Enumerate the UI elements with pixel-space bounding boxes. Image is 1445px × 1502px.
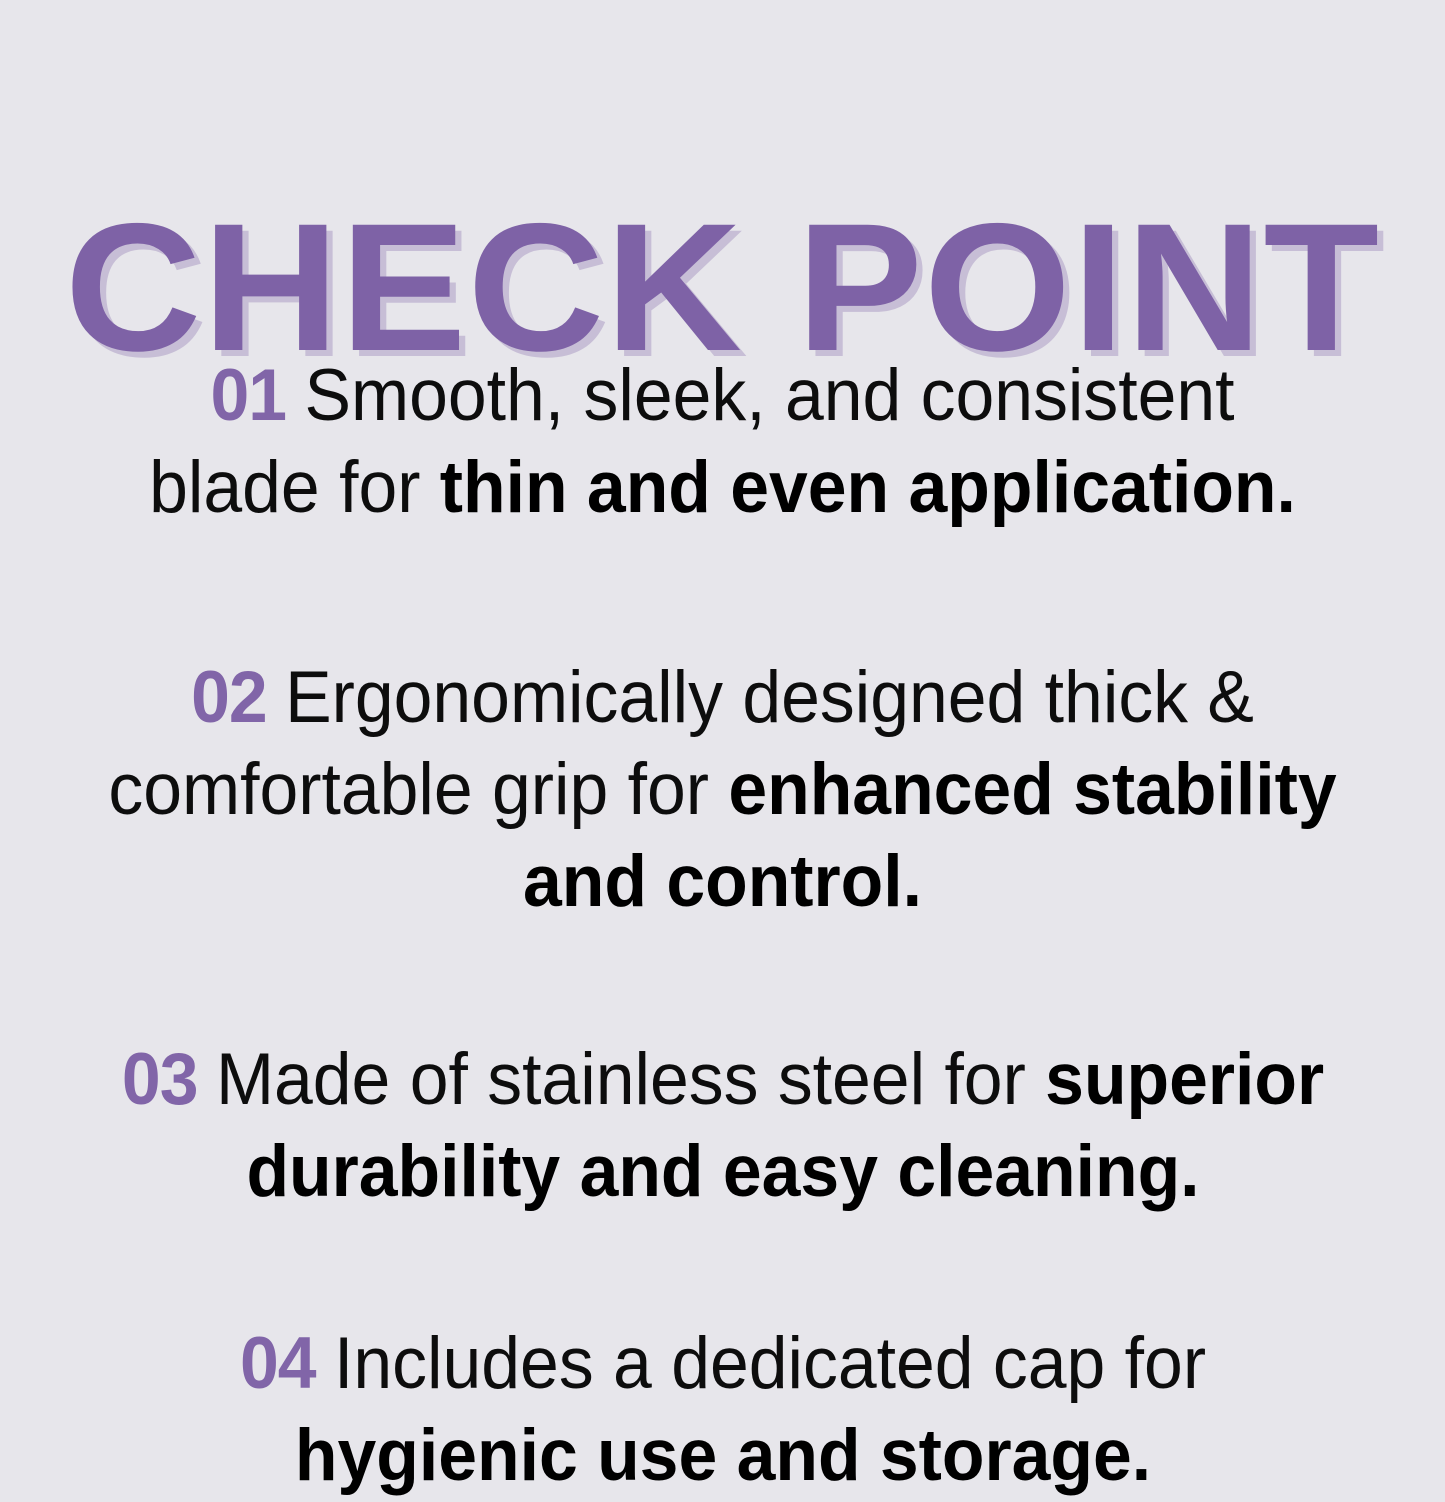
- checkpoint-text-01: 01 Smooth, sleek, and consistent blade f…: [142, 350, 1302, 534]
- checkpoint-text-02: 02 Ergonomically designed thick & comfor…: [40, 652, 1405, 928]
- checkpoint-number-03: 03: [121, 1039, 215, 1120]
- checkpoint-bold-01: thin and even application.: [440, 447, 1296, 528]
- checkpoint-bold-04: hygienic use and storage.: [294, 1415, 1150, 1496]
- list-item: 01 Smooth, sleek, and consistent blade f…: [0, 350, 1445, 534]
- check-point-poster: CHECK POINT 01 Smooth, sleek, and consis…: [0, 0, 1445, 1445]
- checkpoint-number-02: 02: [191, 657, 285, 738]
- checkpoint-number-04: 04: [239, 1323, 333, 1404]
- page-title-container: CHECK POINT: [0, 74, 1445, 254]
- checkpoint-list: 01 Smooth, sleek, and consistent blade f…: [0, 350, 1445, 1502]
- checkpoint-text-03: 03 Made of stainless steel for superior …: [102, 1034, 1344, 1218]
- list-item: 04 Includes a dedicated cap for hygienic…: [0, 1318, 1445, 1502]
- checkpoint-regular-03: Made of stainless steel for: [215, 1039, 1044, 1120]
- list-item: 03 Made of stainless steel for superior …: [0, 1034, 1445, 1218]
- checkpoint-text-04: 04 Includes a dedicated cap for hygienic…: [169, 1318, 1277, 1502]
- checkpoint-regular-04: Includes a dedicated cap for: [334, 1323, 1206, 1404]
- checkpoint-number-01: 01: [210, 355, 304, 436]
- list-item: 02 Ergonomically designed thick & comfor…: [0, 652, 1445, 928]
